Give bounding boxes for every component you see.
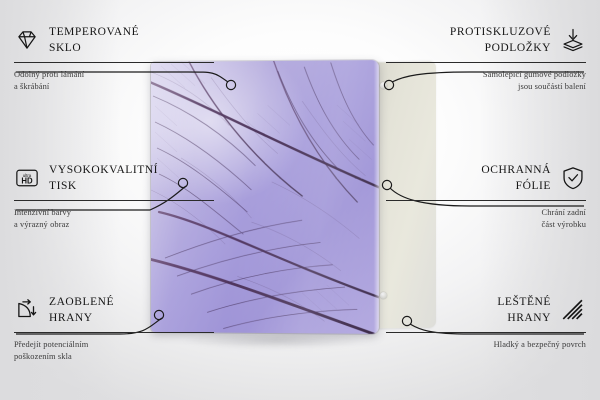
diagonal-hatch-icon	[560, 297, 586, 323]
feature-polished-edges: LEŠTĚNÉ HRANY Hladký a bezpečný povrch	[386, 296, 586, 351]
feature-title-line2: PODLOŽKY	[485, 42, 551, 55]
feature-title-line1: OCHRANNÁ	[481, 164, 551, 177]
feature-divider	[386, 332, 586, 333]
feature-subtitle-line2: jsou součástí balení	[386, 81, 586, 93]
ultra-hd-icon-main-label: HD	[21, 177, 33, 186]
feature-title-line2: HRANY	[49, 312, 114, 325]
feature-divider	[14, 332, 214, 333]
feature-title-line1: PROTISKLUZOVÉ	[450, 26, 551, 39]
feature-title-line1: LEŠTĚNÉ	[497, 296, 551, 309]
feature-title-line1: TEMPEROVANÉ	[49, 26, 139, 39]
infographic-canvas: TEMPEROVANÉ SKLO Odolný proti lámání a š…	[0, 0, 600, 400]
feature-divider	[14, 62, 214, 63]
feature-titles: VYSOKOKVALITNÍ TISK	[49, 164, 158, 193]
feature-title-line2: HRANY	[507, 312, 551, 325]
ultra-hd-icon: ultra HD	[14, 165, 40, 191]
feature-title-line1: VYSOKOKVALITNÍ	[49, 164, 158, 177]
feature-header: PROTISKLUZOVÉ PODLOŽKY	[386, 26, 586, 55]
feature-anti-slip-pads: PROTISKLUZOVÉ PODLOŽKY Samolepicí gumové…	[386, 26, 586, 93]
feature-titles: PROTISKLUZOVÉ PODLOŽKY	[450, 26, 551, 55]
feature-titles: ZAOBLENÉ HRANY	[49, 296, 114, 325]
feature-high-quality-print: ultra HD VYSOKOKVALITNÍ TISK Intenzivní …	[14, 164, 214, 231]
feature-rounded-edges: ZAOBLENÉ HRANY Předejít potenciálním poš…	[14, 296, 214, 363]
feature-title-line2: SKLO	[49, 42, 139, 55]
feature-title-line1: ZAOBLENÉ	[49, 296, 114, 309]
feature-titles: OCHRANNÁ FÓLIE	[481, 164, 551, 193]
feature-subtitle-line1: Předejít potenciálním	[14, 339, 214, 351]
rounded-corner-icon	[14, 297, 40, 323]
feature-subtitle-line1: Odolný proti lámání	[14, 69, 214, 81]
feature-title-line2: TISK	[49, 180, 158, 193]
feature-header: TEMPEROVANÉ SKLO	[14, 26, 214, 55]
feature-tempered-glass: TEMPEROVANÉ SKLO Odolný proti lámání a š…	[14, 26, 214, 93]
feature-header: LEŠTĚNÉ HRANY	[386, 296, 586, 325]
feature-titles: TEMPEROVANÉ SKLO	[49, 26, 139, 55]
feature-protective-film: OCHRANNÁ FÓLIE Chrání zadní část výrobku	[386, 164, 586, 231]
feature-subtitle-line2: a škrábání	[14, 81, 214, 93]
feature-subtitle-line2: a výrazný obraz	[14, 219, 214, 231]
diamond-icon	[14, 27, 40, 53]
feature-titles: LEŠTĚNÉ HRANY	[497, 296, 551, 325]
feature-divider	[386, 200, 586, 201]
shield-check-icon	[560, 165, 586, 191]
stacked-pads-arrow-icon	[560, 27, 586, 53]
feature-header: OCHRANNÁ FÓLIE	[386, 164, 586, 193]
feature-header: ZAOBLENÉ HRANY	[14, 296, 214, 325]
feature-subtitle-line1: Samolepicí gumové podložky	[386, 69, 586, 81]
feature-header: ultra HD VYSOKOKVALITNÍ TISK	[14, 164, 214, 193]
feature-title-line2: FÓLIE	[516, 180, 551, 193]
feature-subtitle-line2: poškozením skla	[14, 351, 214, 363]
glass-edge-highlight	[374, 60, 379, 334]
feature-subtitle-line2: část výrobku	[386, 219, 586, 231]
feature-subtitle-line1: Chrání zadní	[386, 207, 586, 219]
feature-divider	[386, 62, 586, 63]
feature-subtitle-line1: Intenzivní barvy	[14, 207, 214, 219]
feature-divider	[14, 200, 214, 201]
feature-subtitle-line1: Hladký a bezpečný povrch	[386, 339, 586, 351]
